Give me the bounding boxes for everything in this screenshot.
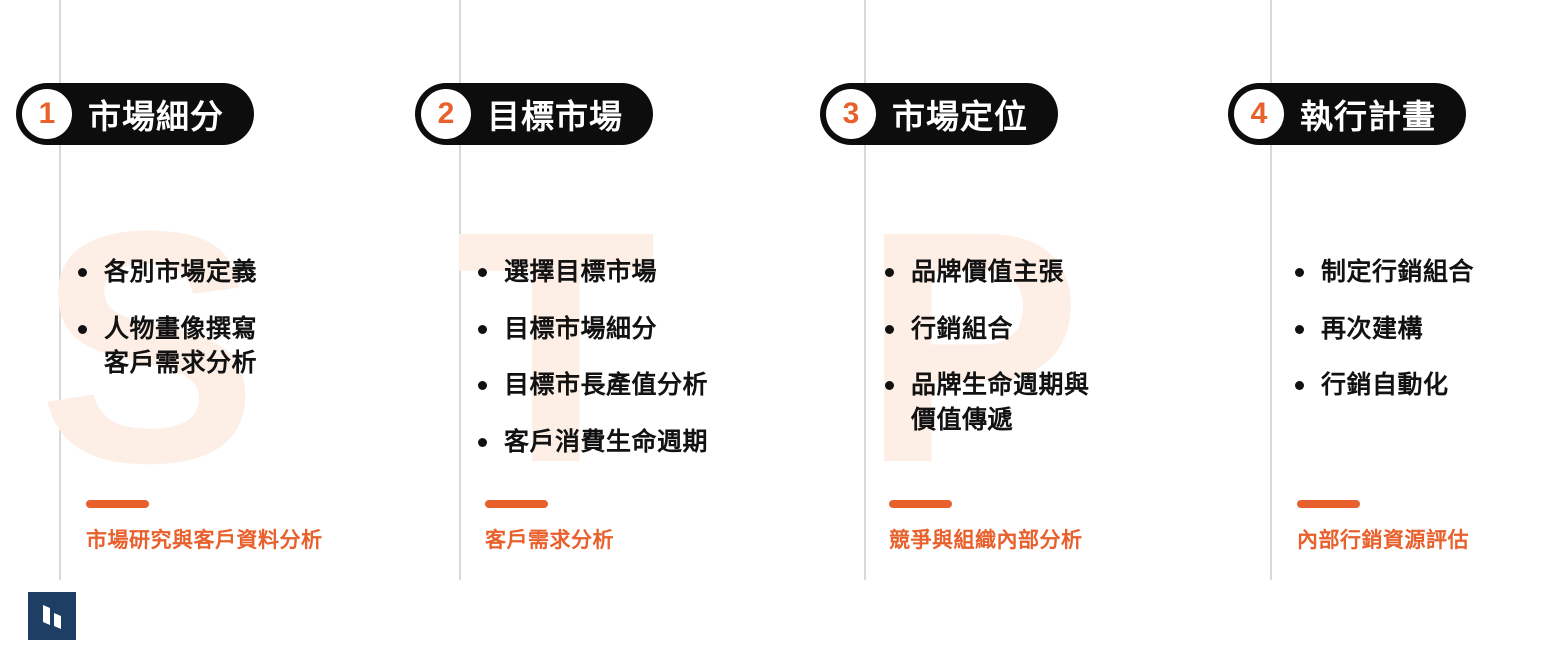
bullet-dot-icon <box>1295 381 1304 390</box>
bullet-dot-icon <box>885 268 894 277</box>
step-title-2: 目標市場 <box>487 90 623 138</box>
step-pill-4[interactable]: 4 執行計畫 <box>1228 83 1466 145</box>
bullet-text: 選擇目標市場 <box>504 255 657 290</box>
bullet-dot-icon <box>478 268 487 277</box>
bullet-text: 客戶消費生命週期 <box>504 425 708 460</box>
step-pill-3[interactable]: 3 市場定位 <box>820 83 1058 145</box>
bullet-text: 人物畫像撰寫 客戶需求分析 <box>104 312 257 381</box>
step-title-1: 市場細分 <box>88 90 224 138</box>
bullet-text: 各別市場定義 <box>104 255 257 290</box>
bullet-list-4: 制定行銷組合 再次建構 行銷自動化 <box>1295 255 1545 403</box>
accent-rule <box>86 500 149 508</box>
bullet-dot-icon <box>478 438 487 447</box>
bullet-dot-icon <box>78 268 87 277</box>
bullet-dot-icon <box>885 325 894 334</box>
step-number-1: 1 <box>22 89 72 139</box>
bullet-text: 行銷自動化 <box>1321 368 1449 403</box>
list-item: 再次建構 <box>1295 312 1545 347</box>
bullet-dot-icon <box>478 325 487 334</box>
step-title-3: 市場定位 <box>892 90 1028 138</box>
bullet-list-2: 選擇目標市場 目標市場細分 目標市長產值分析 客戶消費生命週期 <box>478 255 818 459</box>
footer-label: 市場研究與客戶資料分析 <box>86 524 323 554</box>
footer-caption-1: 市場研究與客戶資料分析 <box>86 500 323 554</box>
list-item: 制定行銷組合 <box>1295 255 1545 290</box>
list-item: 品牌生命週期與 價值傳遞 <box>885 368 1215 437</box>
footer-label: 客戶需求分析 <box>485 524 614 554</box>
bullet-text: 再次建構 <box>1321 312 1423 347</box>
accent-rule <box>889 500 952 508</box>
bullet-text: 目標市場細分 <box>504 312 657 347</box>
bullet-dot-icon <box>1295 325 1304 334</box>
accent-rule <box>1297 500 1360 508</box>
step-number-3: 3 <box>826 89 876 139</box>
footer-caption-3: 競爭與組織內部分析 <box>889 500 1083 554</box>
step-pill-1[interactable]: 1 市場細分 <box>16 83 254 145</box>
list-item: 選擇目標市場 <box>478 255 818 290</box>
step-number-2: 2 <box>421 89 471 139</box>
bullet-text: 制定行銷組合 <box>1321 255 1474 290</box>
footer-label: 競爭與組織內部分析 <box>889 524 1083 554</box>
list-item: 人物畫像撰寫 客戶需求分析 <box>78 312 408 381</box>
bullet-text: 行銷組合 <box>911 312 1013 347</box>
list-item: 品牌價值主張 <box>885 255 1215 290</box>
list-item: 各別市場定義 <box>78 255 408 290</box>
footer-caption-2: 客戶需求分析 <box>485 500 614 554</box>
bullet-text: 目標市長產值分析 <box>504 368 708 403</box>
bullet-dot-icon <box>78 325 87 334</box>
list-item: 目標市場細分 <box>478 312 818 347</box>
step-pill-2[interactable]: 2 目標市場 <box>415 83 653 145</box>
accent-rule <box>485 500 548 508</box>
bullet-list-1: 各別市場定義 人物畫像撰寫 客戶需求分析 <box>78 255 408 381</box>
step-number-4: 4 <box>1234 89 1284 139</box>
bullet-dot-icon <box>885 381 894 390</box>
bullet-text: 品牌生命週期與 價值傳遞 <box>911 368 1090 437</box>
step-title-4: 執行計畫 <box>1300 90 1436 138</box>
brand-logo-icon <box>28 592 76 640</box>
footer-label: 內部行銷資源評估 <box>1297 524 1469 554</box>
list-item: 目標市長產值分析 <box>478 368 818 403</box>
bullet-dot-icon <box>478 381 487 390</box>
bullet-list-3: 品牌價值主張 行銷組合 品牌生命週期與 價值傳遞 <box>885 255 1215 437</box>
list-item: 行銷自動化 <box>1295 368 1545 403</box>
bullet-text: 品牌價值主張 <box>911 255 1064 290</box>
logo-mark-icon <box>28 592 76 640</box>
infographic-canvas: S 1 市場細分 各別市場定義 人物畫像撰寫 客戶需求分析 市場研究與客戶資料分… <box>0 0 1554 661</box>
footer-caption-4: 內部行銷資源評估 <box>1297 500 1469 554</box>
list-item: 客戶消費生命週期 <box>478 425 818 460</box>
list-item: 行銷組合 <box>885 312 1215 347</box>
bullet-dot-icon <box>1295 268 1304 277</box>
